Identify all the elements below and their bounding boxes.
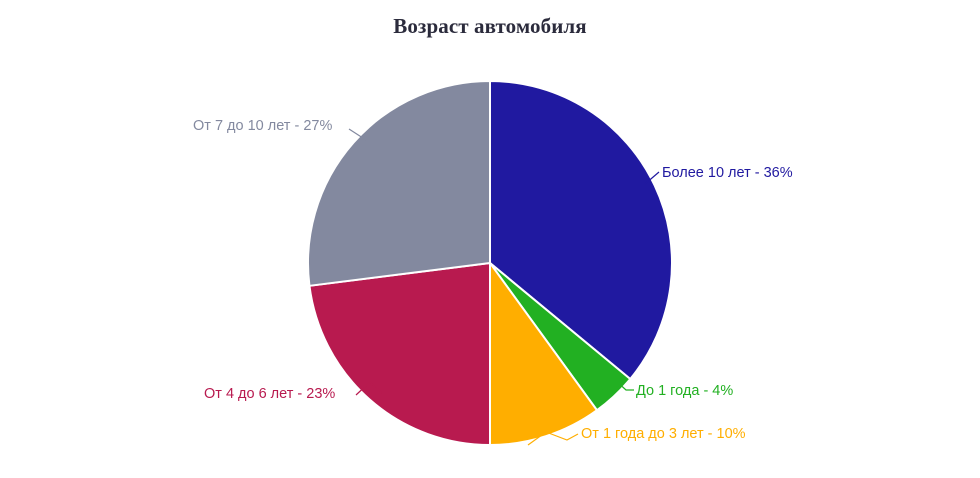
pie-chart-canvas	[0, 0, 980, 478]
pie-slice-7-to-10-years[interactable]	[308, 81, 490, 286]
pie-slices-group	[308, 81, 672, 445]
pie-slice-4-to-6-years[interactable]	[309, 263, 490, 445]
slice-label-under-1-year[interactable]: До 1 года - 4%	[636, 383, 733, 399]
slice-label-1-to-3-years[interactable]: От 1 года до 3 лет - 10%	[581, 426, 746, 442]
pie-chart-figure: Возраст автомобиля Более 10 лет - 36% До…	[0, 0, 980, 478]
slice-label-4-to-6-years[interactable]: От 4 до 6 лет - 23%	[204, 386, 335, 402]
slice-label-7-to-10-years[interactable]: От 7 до 10 лет - 27%	[193, 118, 332, 134]
slice-label-more-than-10-years[interactable]: Более 10 лет - 36%	[662, 165, 793, 181]
